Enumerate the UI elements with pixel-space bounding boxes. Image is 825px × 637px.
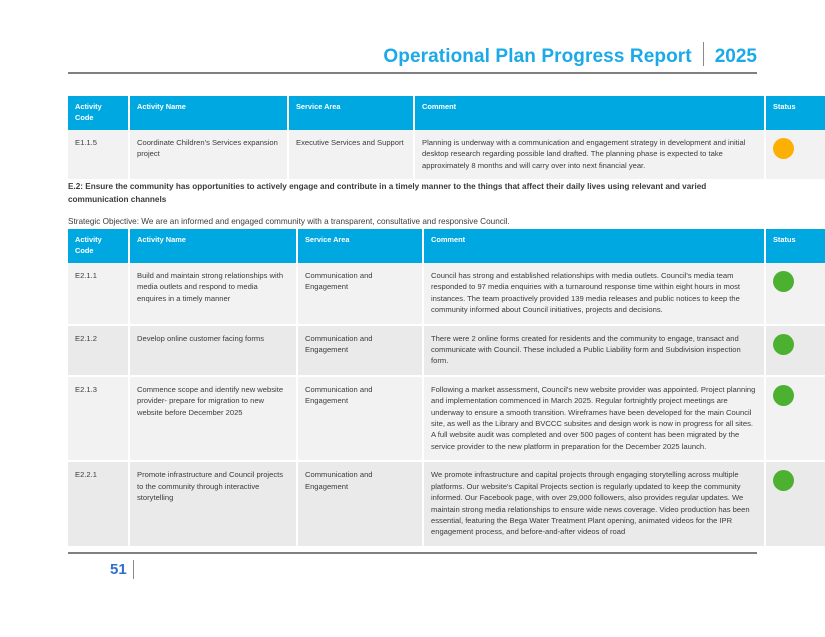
table-header-row-e1: Activity Code Activity Name Service Area…	[68, 96, 825, 130]
page-number: 51	[110, 561, 127, 579]
header-rule	[68, 72, 757, 74]
column-header-line-2: Code	[75, 246, 93, 255]
section-heading: E.2: Ensure the community has opportunit…	[68, 180, 760, 206]
footer-rule	[68, 552, 757, 554]
cell-activity-name: Promote infrastructure and Council proje…	[129, 461, 297, 546]
cell-service-area: Communication and Engagement	[297, 461, 423, 546]
document-header: Operational Plan Progress Report 2025	[68, 38, 757, 72]
cell-activity-code: E2.2.1	[68, 461, 129, 546]
cell-comment: Planning is underway with a communicatio…	[414, 130, 765, 180]
cell-activity-code: E2.1.2	[68, 325, 129, 376]
column-header-line-1: Activity	[75, 102, 102, 111]
column-header-activity-code: Activity Code	[68, 229, 129, 263]
column-header-line-2: Code	[75, 113, 93, 122]
cell-status	[765, 461, 825, 546]
cell-activity-code: E2.1.3	[68, 376, 129, 461]
cell-comment: Council has strong and established relat…	[423, 263, 765, 325]
column-header-line-1: Activity	[75, 235, 102, 244]
column-header-status: Status	[765, 229, 825, 263]
cell-activity-name: Develop online customer facing forms	[129, 325, 297, 376]
cell-comment: We promote infrastructure and capital pr…	[423, 461, 765, 546]
column-header-service-area: Service Area	[297, 229, 423, 263]
cell-activity-name: Coordinate Children’s Services expansion…	[129, 130, 288, 180]
header-year: 2025	[715, 46, 757, 68]
cell-service-area: Communication and Engagement	[297, 263, 423, 325]
activity-table-e2: Activity Code Activity Name Service Area…	[68, 229, 825, 548]
cell-activity-name: Commence scope and identify new website …	[129, 376, 297, 461]
cell-status	[765, 263, 825, 325]
cell-status	[765, 376, 825, 461]
column-header-service-area: Service Area	[288, 96, 414, 130]
cell-status	[765, 130, 825, 180]
cell-comment: There were 2 online forms created for re…	[423, 325, 765, 376]
cell-service-area: Communication and Engagement	[297, 325, 423, 376]
cell-service-area: Executive Services and Support	[288, 130, 414, 180]
status-indicator-green-icon	[773, 385, 794, 406]
table-row: E2.2.1 Promote infrastructure and Counci…	[68, 461, 825, 546]
cell-activity-code: E1.1.5	[68, 130, 129, 180]
column-header-comment: Comment	[414, 96, 765, 130]
cell-service-area: Communication and Engagement	[297, 376, 423, 461]
header-title: Operational Plan Progress Report	[383, 46, 691, 68]
status-indicator-green-icon	[773, 470, 794, 491]
strategic-objective: Strategic Objective: We are an informed …	[68, 215, 760, 228]
cell-status	[765, 325, 825, 376]
document-page: Operational Plan Progress Report 2025 Ac…	[0, 0, 825, 637]
cell-activity-name: Build and maintain strong relationships …	[129, 263, 297, 325]
status-indicator-green-icon	[773, 334, 794, 355]
table-row: E1.1.5 Coordinate Children’s Services ex…	[68, 130, 825, 180]
document-footer: 51	[110, 560, 134, 579]
column-header-status: Status	[765, 96, 825, 130]
table-row: E2.1.3 Commence scope and identify new w…	[68, 376, 825, 461]
activity-table-e1: Activity Code Activity Name Service Area…	[68, 96, 825, 181]
column-header-activity-code: Activity Code	[68, 96, 129, 130]
table-row: E2.1.2 Develop online customer facing fo…	[68, 325, 825, 376]
status-indicator-green-icon	[773, 271, 794, 292]
column-header-activity-name: Activity Name	[129, 96, 288, 130]
table-row: E2.1.1 Build and maintain strong relatio…	[68, 263, 825, 325]
cell-activity-code: E2.1.1	[68, 263, 129, 325]
footer-divider	[133, 560, 134, 579]
header-divider	[703, 42, 704, 66]
status-indicator-amber-icon	[773, 138, 794, 159]
column-header-comment: Comment	[423, 229, 765, 263]
column-header-activity-name: Activity Name	[129, 229, 297, 263]
cell-comment: Following a market assessment, Council's…	[423, 376, 765, 461]
table-header-row-e2: Activity Code Activity Name Service Area…	[68, 229, 825, 263]
